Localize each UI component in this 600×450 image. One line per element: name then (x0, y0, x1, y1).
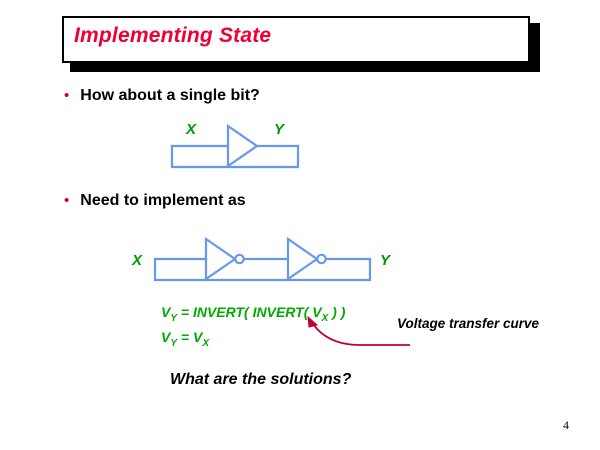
closing-question: What are the solutions? (170, 371, 351, 389)
buffer-gate-icon (228, 126, 257, 166)
node-label-x: X (131, 252, 143, 269)
eq2-lhs-var: V (161, 329, 170, 345)
eq1-lhs-var: V (161, 304, 170, 320)
page-title: Implementing State (74, 24, 271, 48)
wire-feedback-loop (155, 259, 370, 280)
wire-feedback-loop (172, 146, 298, 167)
inverter-2-bubble-icon (317, 255, 325, 263)
bullet-item-implement-as: • Need to implement as (64, 192, 246, 210)
bullet-dot-icon: • (64, 193, 69, 208)
bullet-label: How about a single bit? (80, 87, 260, 105)
annotation-line-1: Voltage transfer (397, 316, 499, 331)
annotation-line-2: curve (503, 316, 539, 331)
node-label-x: X (185, 121, 197, 138)
arrow-head (308, 317, 317, 327)
bullet-item-single-bit: • How about a single bit? (64, 87, 260, 105)
buffer-feedback-circuit-diagram: X Y (150, 118, 330, 184)
inverter-feedback-circuit-diagram: X Y (120, 232, 410, 290)
node-label-y: Y (274, 121, 286, 138)
inverter-1-bubble-icon (235, 255, 243, 263)
inverter-2-gate-icon (288, 239, 317, 279)
annotation-voltage-transfer-curve: Voltage transfer curve (393, 315, 543, 332)
page-number: 4 (563, 418, 569, 433)
node-label-y: Y (380, 252, 392, 269)
eq2-rhs-sub: X (202, 338, 209, 349)
bullet-label: Need to implement as (80, 192, 245, 210)
eq2-rhs: = V (177, 329, 202, 345)
inverter-1-gate-icon (206, 239, 235, 279)
eq1-lhs-sub: Y (170, 313, 177, 324)
bullet-dot-icon: • (64, 88, 69, 103)
eq2-lhs-sub: Y (170, 338, 177, 349)
